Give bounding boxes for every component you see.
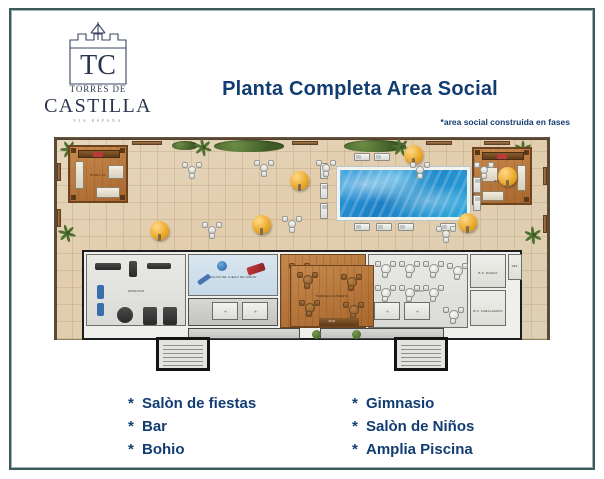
pool-lounger [320, 183, 328, 199]
bench [292, 141, 318, 145]
patio-set [410, 161, 430, 179]
bohio-post [120, 195, 125, 200]
bohio-left-label: BOHIO #1 [70, 173, 126, 177]
gym-machine [147, 263, 171, 269]
room-kids: SALON DE JUEGO DE NIÑOS [188, 254, 278, 296]
banquet-table [423, 259, 445, 279]
patio-set [316, 159, 336, 177]
room-storage: DEP. [508, 254, 522, 280]
palm-tree-icon [524, 225, 544, 245]
gym-machine [143, 307, 157, 325]
pool-lounger [354, 153, 370, 161]
pool-table [242, 302, 268, 320]
kids-toy-icon [217, 261, 227, 271]
patio-umbrella [498, 167, 517, 186]
svg-text:TC: TC [80, 50, 116, 81]
bohio-bar-counter [482, 152, 524, 160]
brand-main-text: CASTILLA [40, 95, 156, 117]
hedge [214, 140, 284, 152]
banquet-table [399, 283, 421, 303]
pool-table [404, 302, 430, 320]
storage-label: DEP. [509, 265, 521, 269]
list-item-label: Bar [142, 418, 167, 435]
bench [484, 141, 510, 145]
patio-umbrella [458, 213, 477, 232]
perimeter-wall-right [547, 137, 550, 340]
amenities-column-left: *Salòn de fiestas *Bar *Bohio [128, 392, 256, 461]
dining-set [343, 300, 365, 320]
gym-machine [95, 263, 121, 270]
bullet-marker: * [128, 415, 142, 438]
pool-lounger [376, 223, 392, 231]
brand-logo: TC TORRES DE CASTILLA VIA ESPANA [40, 18, 156, 126]
patio-set [202, 221, 222, 239]
patio-umbrella [290, 171, 309, 190]
stair-right [394, 337, 448, 371]
gym-machine [117, 307, 133, 323]
bath-ladies-label: B.S. DAMAS [471, 271, 505, 275]
list-item: *Salòn de Niños [352, 415, 474, 438]
bullet-marker: * [128, 392, 142, 415]
swimming-pool [337, 167, 470, 220]
list-item-label: Salòn de Niños [366, 418, 474, 435]
pool-lounger [398, 223, 414, 231]
bohio-post [71, 148, 76, 153]
patio-set [254, 159, 274, 177]
page-title: Planta Completa Area Social [150, 78, 570, 101]
bohio-post [475, 150, 480, 155]
list-item-label: Bohio [142, 441, 185, 458]
perimeter-wall-top [54, 137, 550, 140]
amenities-list: *Salòn de fiestas *Bar *Bohio *Gimnasio … [0, 392, 604, 472]
bohio-post [71, 195, 76, 200]
pool-lounger [473, 177, 481, 193]
room-bath-men: B.S. CABALLEROS [470, 290, 506, 326]
bohio-sofa [517, 165, 526, 191]
banquet-table [375, 283, 397, 303]
list-item: *Amplia Piscina [352, 438, 474, 461]
dining-set [341, 272, 363, 292]
bohio-bar-counter [78, 150, 120, 158]
bohio-post [524, 150, 529, 155]
pool-table [212, 302, 238, 320]
pool-table [374, 302, 400, 320]
bath-men-label: B.S. CABALLEROS [471, 309, 505, 313]
amenities-column-right: *Gimnasio *Salòn de Niños *Amplia Piscin… [352, 392, 474, 461]
slide-page: TC TORRES DE CASTILLA VIA ESPANA Planta … [0, 0, 604, 479]
stair-left [156, 337, 210, 371]
floorplan: BOHIO #1 BOHIO #2 [54, 137, 550, 340]
list-item: *Bar [128, 415, 256, 438]
pool-lounger [374, 153, 390, 161]
bohio-sofa [482, 191, 504, 201]
patio-set [474, 161, 494, 179]
list-item: *Salòn de fiestas [128, 392, 256, 415]
brand-wordmark: TORRES DE CASTILLA VIA ESPANA [40, 84, 156, 124]
list-item: *Bohio [128, 438, 256, 461]
bullet-marker: * [352, 438, 366, 461]
gym-machine [97, 285, 104, 299]
phase-note: *area social construida en fases [330, 117, 570, 127]
room-bath-ladies: B.S. DAMAS [470, 254, 506, 288]
banquet-table [399, 259, 421, 279]
room-gym: GIMNASIO [86, 254, 186, 326]
kids-slide-icon [246, 262, 266, 275]
list-item-label: Salòn de fiestas [142, 395, 256, 412]
bench [543, 167, 547, 185]
pool-lounger [473, 195, 481, 211]
palm-tree-icon [58, 223, 78, 243]
list-item-label: Amplia Piscina [366, 441, 473, 458]
dining-set [297, 270, 319, 290]
list-item-label: Gimnasio [366, 395, 434, 412]
pool-lounger [320, 203, 328, 219]
dining-set [299, 298, 321, 318]
room-terrace-right-block: TERRAZA CUBIERTA BAR [290, 265, 374, 327]
bullet-marker: * [352, 392, 366, 415]
patio-set [182, 161, 202, 179]
patio-set [436, 225, 456, 243]
patio-set [282, 215, 302, 233]
palm-tree-icon [194, 137, 214, 157]
castle-tower-icon: TC [40, 18, 156, 90]
interior-plant [352, 330, 361, 339]
brand-sub-text: VIA ESPANA [40, 117, 156, 124]
pool-lounger [354, 223, 370, 231]
patio-umbrella [150, 221, 169, 240]
bench [426, 141, 452, 145]
bohio-post [524, 197, 529, 202]
bullet-marker: * [128, 438, 142, 461]
bohio-post [120, 148, 125, 153]
gym-machine [163, 307, 177, 325]
gym-machine [129, 261, 137, 277]
banquet-table [443, 305, 465, 325]
bohio-left: BOHIO #1 [68, 145, 128, 203]
interior-plant [312, 330, 321, 339]
brand-top-text: TORRES DE [40, 84, 156, 95]
banquet-table [447, 261, 469, 281]
bohio-sofa [96, 187, 120, 198]
patio-umbrella [252, 215, 271, 234]
bullet-marker: * [352, 415, 366, 438]
banquet-table [423, 283, 445, 303]
bench [132, 141, 162, 145]
banquet-table [375, 259, 397, 279]
bar-right-label: BAR [291, 319, 373, 323]
list-item: *Gimnasio [352, 392, 474, 415]
bench [57, 163, 61, 181]
gym-machine [97, 303, 104, 316]
